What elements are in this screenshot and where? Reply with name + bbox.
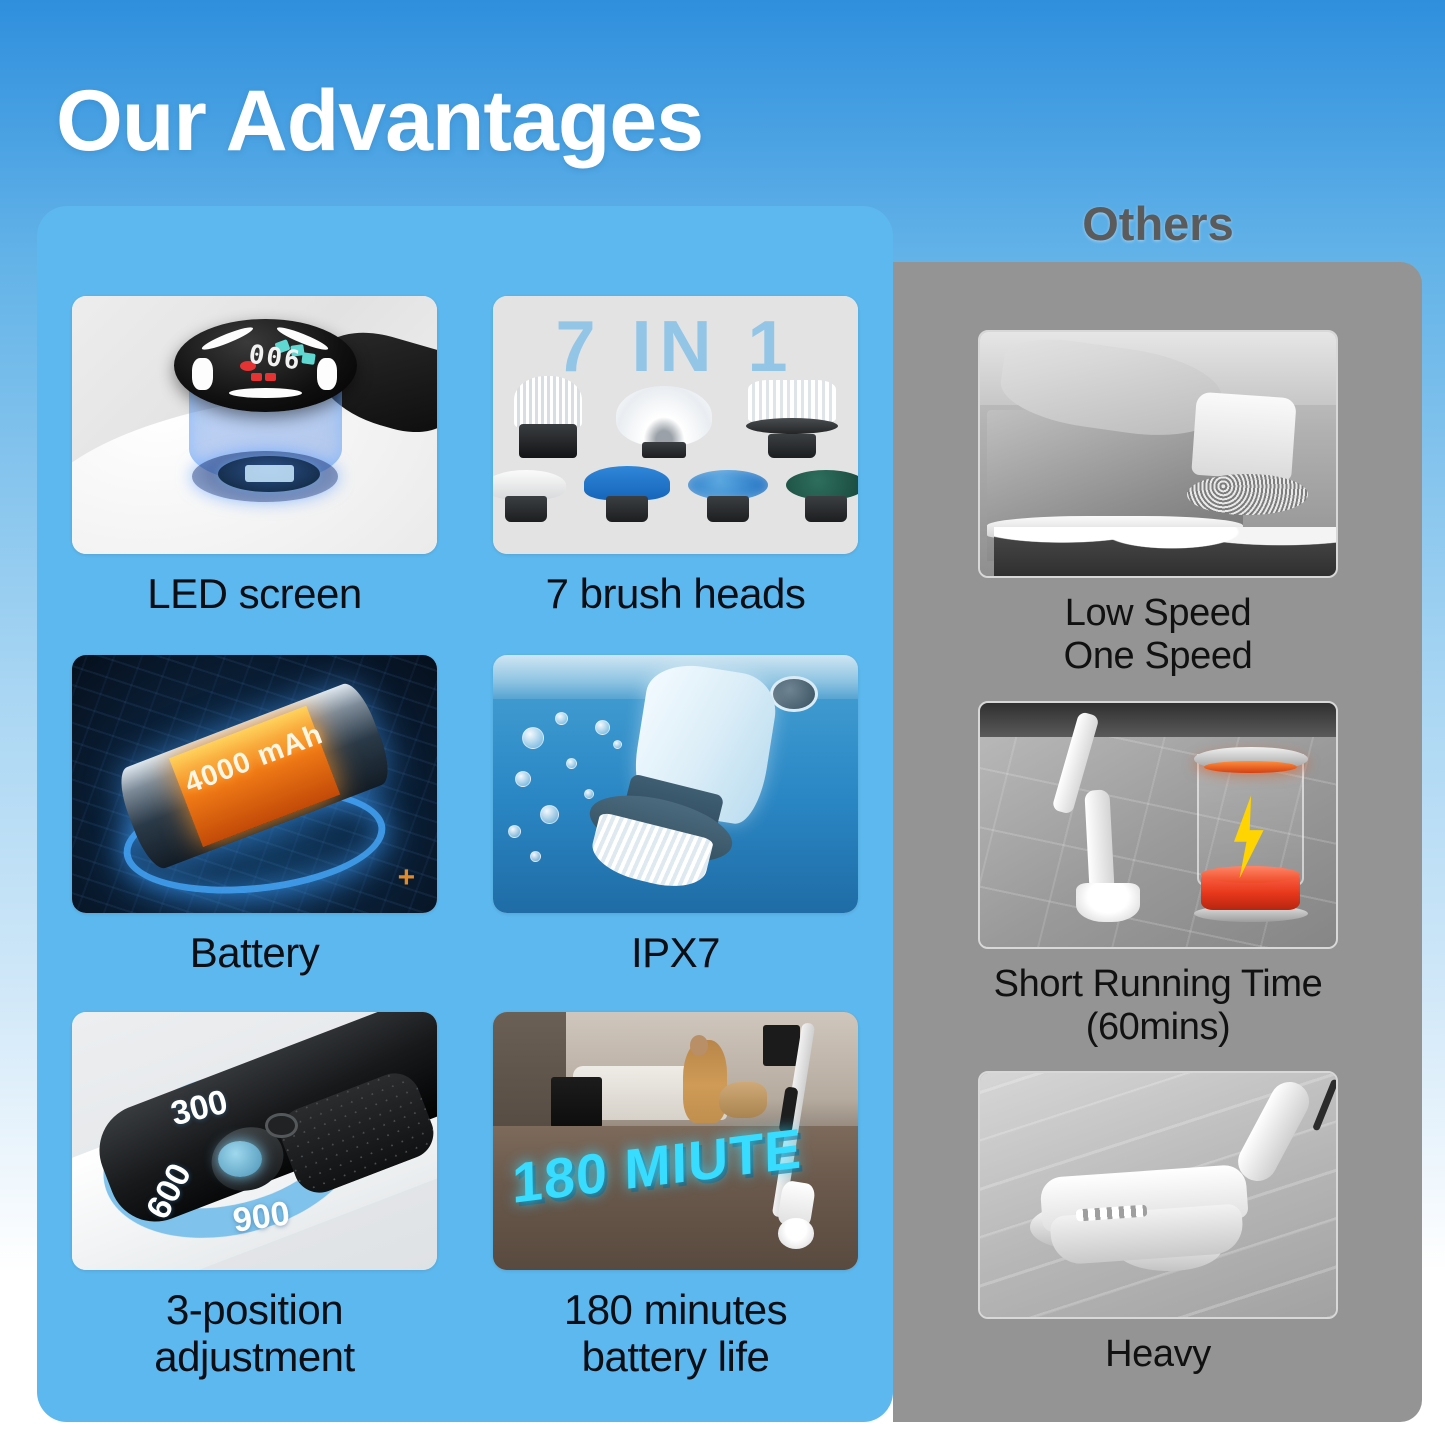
brush-head-icon <box>746 380 838 458</box>
others-caption: Heavy <box>978 1333 1338 1376</box>
heavy-image <box>978 1071 1338 1319</box>
caption-line-1: Heavy <box>978 1333 1338 1376</box>
caption-line-2: adjustment <box>72 1333 437 1380</box>
caption-line-2: One Speed <box>978 635 1338 678</box>
feature-caption: IPX7 <box>493 929 858 976</box>
feature-caption: LED screen <box>72 570 437 617</box>
battery-life-image: 180 MIUTE <box>493 1012 858 1270</box>
feature-brush-heads[interactable]: 7 IN 1 7 brush heads <box>493 296 858 617</box>
led-display-art: 900 <box>72 296 437 554</box>
feature-battery-life[interactable]: 180 MIUTE 180 minutes battery life <box>493 1012 858 1380</box>
low-speed-image <box>978 330 1338 578</box>
feature-speed-adjustment[interactable]: 300 600 900 3-position adjustment <box>72 1012 437 1380</box>
caption-line-1: 180 minutes <box>493 1286 858 1333</box>
low-battery-mop-art <box>980 703 1336 947</box>
short-running-time-image <box>978 701 1338 949</box>
brush-heads-image: 7 IN 1 <box>493 296 858 554</box>
battery-image: 4000 mAh + <box>72 655 437 913</box>
plus-icon: + <box>398 861 416 895</box>
feature-battery[interactable]: 4000 mAh + Battery <box>72 655 437 976</box>
brush-head-icon <box>616 386 712 458</box>
feature-led-screen[interactable]: 900 LED screen <box>72 296 437 617</box>
page-title: Our Advantages <box>56 72 703 171</box>
brush-head-icon <box>584 466 670 522</box>
dual-head-mop-art <box>980 1073 1336 1317</box>
others-column-title: Others <box>893 196 1423 251</box>
brush-heads-art: 7 IN 1 <box>493 296 858 554</box>
brush-head-icon <box>493 470 566 522</box>
speed-dial-art: 300 600 900 <box>72 1012 437 1270</box>
hand-scrubbing-sink-art <box>980 332 1336 576</box>
feature-ipx7[interactable]: IPX7 <box>493 655 858 976</box>
others-caption: Short Running Time (60mins) <box>978 963 1338 1050</box>
others-caption: Low Speed One Speed <box>978 592 1338 679</box>
caption-line-2: battery life <box>493 1333 858 1380</box>
speed-label-900: 900 <box>230 1194 292 1241</box>
advantages-grid: 900 LED screen 7 IN 1 <box>72 296 858 1380</box>
led-dial-icon: 900 <box>174 319 357 412</box>
feature-caption: 3-position adjustment <box>72 1286 437 1380</box>
feature-caption: Battery <box>72 929 437 976</box>
power-button-icon <box>218 1141 262 1177</box>
living-room-scene-art: 180 MIUTE <box>493 1012 858 1270</box>
others-item-heavy[interactable]: Heavy <box>978 1071 1338 1376</box>
others-list: Low Speed One Speed Short Running Time <box>978 330 1338 1399</box>
speed-adjustment-image: 300 600 900 <box>72 1012 437 1270</box>
brush-head-icon <box>688 470 768 522</box>
battery-art: 4000 mAh + <box>72 655 437 913</box>
brush-head-icon <box>786 470 859 522</box>
caption-line-1: Low Speed <box>978 592 1338 635</box>
caption-line-1: 3-position <box>72 1286 437 1333</box>
others-item-short-running-time[interactable]: Short Running Time (60mins) <box>978 701 1338 1050</box>
caption-line-2: (60mins) <box>978 1006 1338 1049</box>
caption-line-1: Short Running Time <box>978 963 1338 1006</box>
feature-caption: 7 brush heads <box>493 570 858 617</box>
ipx7-image <box>493 655 858 913</box>
led-screen-image: 900 <box>72 296 437 554</box>
dog-figure <box>719 1082 766 1118</box>
brush-head-icon <box>514 376 582 458</box>
underwater-brush-art <box>493 655 858 913</box>
others-item-low-speed[interactable]: Low Speed One Speed <box>978 330 1338 679</box>
feature-caption: 180 minutes battery life <box>493 1286 858 1380</box>
